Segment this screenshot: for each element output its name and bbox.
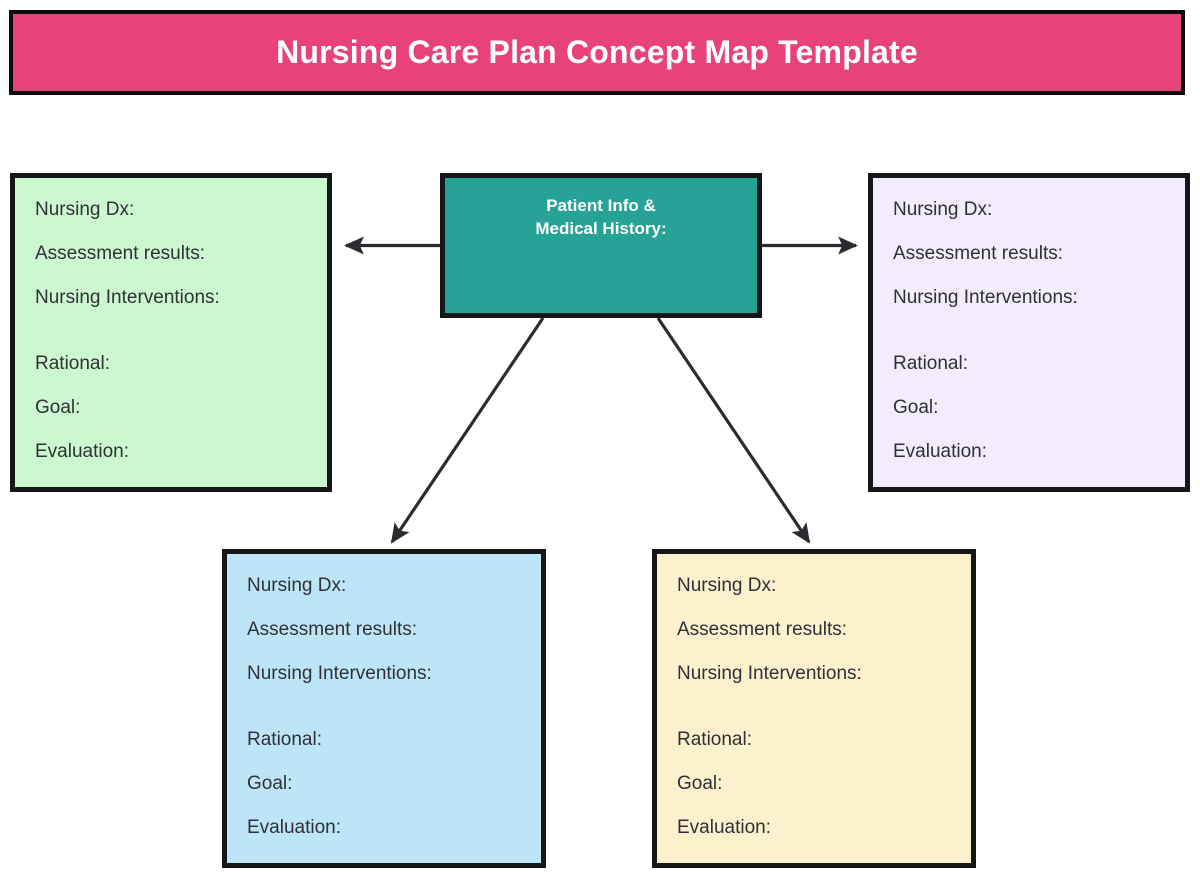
field-nursing-interventions: Nursing Interventions: [247,664,541,683]
page-title: Nursing Care Plan Concept Map Template [276,35,918,70]
concept-map-canvas: Nursing Care Plan Concept Map Template P… [0,0,1200,880]
node-care-plan-bottom-left[interactable]: Nursing Dx: Assessment results: Nursing … [222,549,546,868]
field-assessment-results: Assessment results: [247,620,541,639]
node-care-plan-bottom-right[interactable]: Nursing Dx: Assessment results: Nursing … [652,549,976,868]
field-goal: Goal: [35,398,327,417]
connector-center-to-bottom-right [658,318,809,542]
field-nursing-interventions: Nursing Interventions: [893,288,1185,307]
field-nursing-dx: Nursing Dx: [35,200,327,219]
node-patient-info-line2: Medical History: [445,218,757,241]
field-nursing-dx: Nursing Dx: [893,200,1185,219]
node-patient-info-line1: Patient Info & [445,195,757,218]
page-title-banner: Nursing Care Plan Concept Map Template [9,10,1185,95]
field-assessment-results: Assessment results: [893,244,1185,263]
field-assessment-results: Assessment results: [677,620,971,639]
field-assessment-results: Assessment results: [35,244,327,263]
node-patient-info[interactable]: Patient Info & Medical History: [440,173,762,318]
field-evaluation: Evaluation: [677,818,971,837]
field-nursing-dx: Nursing Dx: [677,576,971,595]
field-rational: Rational: [893,354,1185,373]
node-care-plan-left-fields: Nursing Dx: Assessment results: Nursing … [15,178,327,461]
field-evaluation: Evaluation: [35,442,327,461]
field-goal: Goal: [677,774,971,793]
node-patient-info-title: Patient Info & Medical History: [445,178,757,241]
field-rational: Rational: [35,354,327,373]
connector-center-to-bottom-left [392,318,543,542]
node-care-plan-right-fields: Nursing Dx: Assessment results: Nursing … [873,178,1185,461]
node-care-plan-right[interactable]: Nursing Dx: Assessment results: Nursing … [868,173,1190,492]
node-care-plan-left[interactable]: Nursing Dx: Assessment results: Nursing … [10,173,332,492]
field-goal: Goal: [893,398,1185,417]
field-goal: Goal: [247,774,541,793]
field-nursing-dx: Nursing Dx: [247,576,541,595]
field-nursing-interventions: Nursing Interventions: [677,664,971,683]
field-rational: Rational: [677,730,971,749]
node-care-plan-bottom-left-fields: Nursing Dx: Assessment results: Nursing … [227,554,541,837]
field-nursing-interventions: Nursing Interventions: [35,288,327,307]
node-care-plan-bottom-right-fields: Nursing Dx: Assessment results: Nursing … [657,554,971,837]
field-evaluation: Evaluation: [893,442,1185,461]
field-rational: Rational: [247,730,541,749]
field-evaluation: Evaluation: [247,818,541,837]
